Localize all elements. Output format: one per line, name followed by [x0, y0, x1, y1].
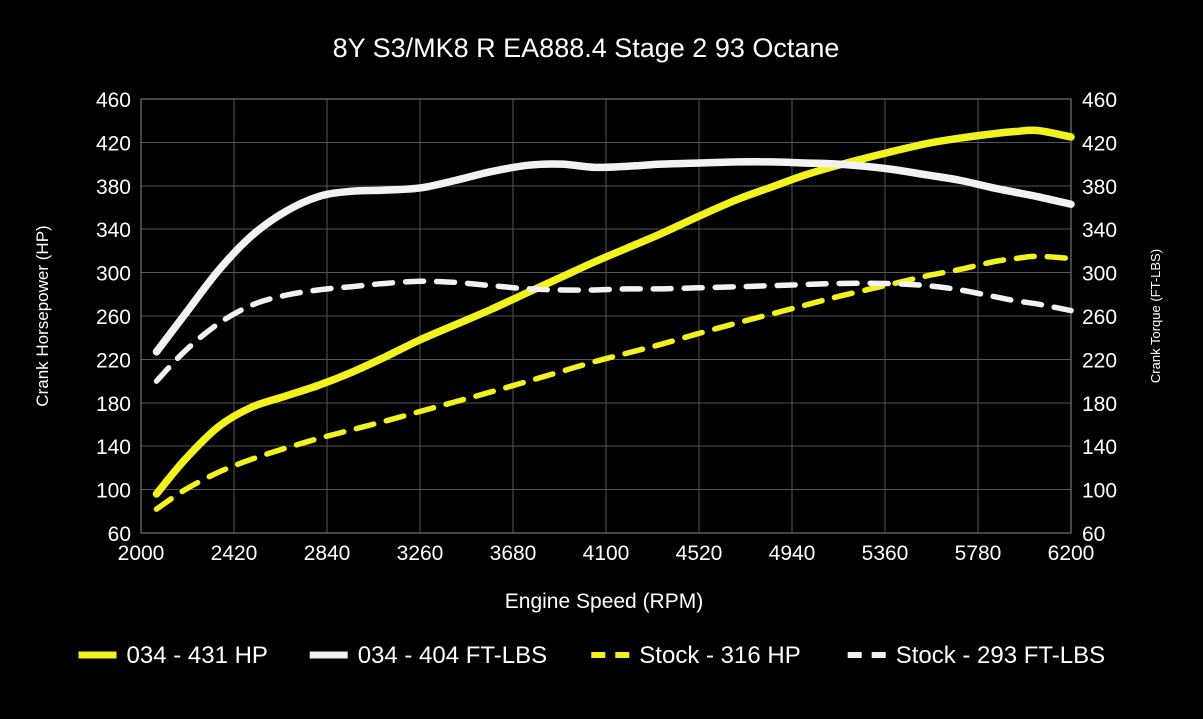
y-tick-label-right: 100 [1082, 480, 1117, 503]
y-tick-label-right: 140 [1082, 436, 1117, 459]
y-tick-label-right: 300 [1082, 263, 1117, 286]
y-tick-label-left: 420 [96, 132, 131, 155]
x-axis-title: Engine Speed (RPM) [505, 590, 703, 613]
y-tick-label-left: 460 [96, 89, 131, 112]
x-tick-label: 6200 [1048, 542, 1095, 565]
y-tick-label-left: 340 [96, 219, 131, 242]
x-tick-label: 2840 [304, 542, 351, 565]
y-tick-label-right: 420 [1082, 132, 1117, 155]
y-tick-label-right: 340 [1082, 219, 1117, 242]
y-tick-label-left: 260 [96, 306, 131, 329]
y-tick-label-left: 300 [96, 263, 131, 286]
legend-label: 034 - 431 HP [127, 642, 268, 669]
x-tick-label: 4100 [583, 542, 630, 565]
y-tick-label-left: 140 [96, 436, 131, 459]
y-tick-label-right: 260 [1082, 306, 1117, 329]
y-tick-label-right: 220 [1082, 349, 1117, 372]
chart-title: 8Y S3/MK8 R EA888.4 Stage 2 93 Octane [333, 33, 840, 63]
y-tick-label-right: 180 [1082, 393, 1117, 416]
y-tick-label-left: 380 [96, 176, 131, 199]
x-tick-label: 4940 [769, 542, 816, 565]
x-tick-label: 3680 [490, 542, 537, 565]
y-axis-right-title: Crank Torque (FT-LBS) [1148, 249, 1163, 383]
x-tick-label: 5780 [955, 542, 1002, 565]
legend-label: 034 - 404 FT-LBS [358, 642, 547, 669]
y-tick-label-right: 380 [1082, 176, 1117, 199]
x-tick-label: 3260 [397, 542, 444, 565]
dyno-chart-root: 8Y S3/MK8 R EA888.4 Stage 2 93 Octane 60… [0, 0, 1203, 719]
legend-label: Stock - 293 FT-LBS [896, 642, 1105, 669]
legend-label: Stock - 316 HP [639, 642, 800, 669]
x-tick-label: 2000 [118, 542, 165, 565]
dyno-chart-svg: 8Y S3/MK8 R EA888.4 Stage 2 93 Octane 60… [0, 0, 1203, 719]
x-tick-label: 5360 [862, 542, 909, 565]
y-tick-label-left: 100 [96, 480, 131, 503]
y-tick-label-left: 180 [96, 393, 131, 416]
x-tick-label: 4520 [676, 542, 723, 565]
y-axis-left-title: Crank Horsepower (HP) [33, 225, 52, 406]
x-tick-label: 2420 [211, 542, 258, 565]
y-tick-label-right: 460 [1082, 89, 1117, 112]
y-tick-label-left: 220 [96, 349, 131, 372]
